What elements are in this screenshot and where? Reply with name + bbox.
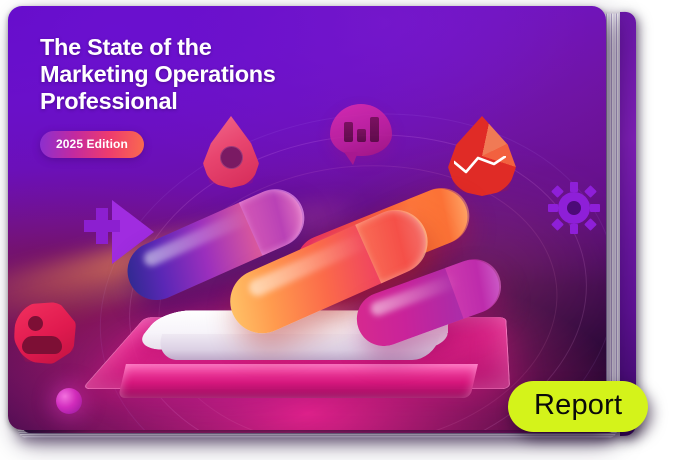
- contact-person-icon: [14, 302, 76, 364]
- cover-title-block: The State of the Marketing Operations Pr…: [40, 34, 380, 158]
- page-title-line-2: Marketing Operations: [40, 61, 380, 88]
- glass-base-front: [118, 364, 478, 398]
- report-cover-thumbnail[interactable]: The State of the Marketing Operations Pr…: [0, 0, 684, 460]
- page-title-line-1: The State of the: [40, 34, 380, 61]
- book-back-cover-edge: [620, 12, 636, 436]
- gear-icon: [548, 182, 600, 234]
- glow-sphere-icon: [56, 388, 82, 414]
- pie-chart-icon: [448, 116, 516, 196]
- pie-chart-trend-line: [454, 156, 506, 178]
- report-badge[interactable]: Report: [508, 381, 648, 432]
- book-front-cover[interactable]: The State of the Marketing Operations Pr…: [8, 6, 606, 430]
- page-title-line-3: Professional: [40, 88, 380, 115]
- hero-3d-scene: [96, 194, 526, 426]
- edition-badge: 2025 Edition: [40, 131, 144, 158]
